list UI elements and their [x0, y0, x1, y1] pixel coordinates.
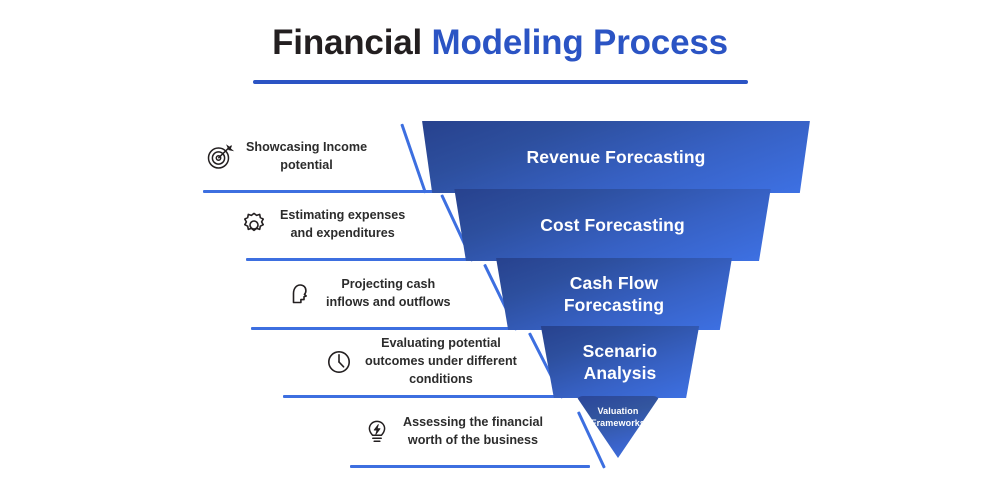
page-title-part2: Modeling Process: [432, 23, 728, 62]
funnel-band-label: Scenario Analysis: [583, 340, 658, 385]
head-profile-icon: [283, 277, 317, 311]
stage-description: Estimating expenses and expenditures: [280, 207, 405, 243]
page-title-part1: Financial: [272, 23, 431, 62]
stage-description: Evaluating potential outcomes under diff…: [365, 335, 517, 389]
gear-icon: [237, 208, 271, 242]
stage-description: Showcasing Income potential: [246, 139, 367, 175]
stage-label-cash-flow-forecasting: Projecting cash inflows and outflows: [283, 258, 495, 330]
funnel-band[interactable]: Cash Flow Forecasting: [488, 258, 740, 330]
clock-icon: [322, 345, 356, 379]
page-title: Financial Modeling Process: [0, 24, 1000, 63]
title-underline: [253, 80, 748, 84]
stage-description: Projecting cash inflows and outflows: [326, 276, 451, 312]
funnel-stage-scenario-analysis[interactable]: Evaluating potential outcomes under diff…: [0, 326, 1000, 398]
stage-label-cost-forecasting: Estimating expenses and expenditures: [237, 189, 452, 261]
pointer-line-horizontal: [350, 465, 590, 468]
title-block: Financial Modeling Process: [0, 24, 1000, 84]
stage-description: Assessing the financial worth of the bus…: [403, 414, 543, 450]
stage-label-revenue-forecasting: Showcasing Income potential: [203, 121, 418, 193]
funnel-band[interactable]: Valuation Frameworks: [576, 396, 660, 458]
stage-label-valuation-frameworks: Assessing the financial worth of the bus…: [360, 396, 573, 468]
funnel-band[interactable]: Cost Forecasting: [446, 189, 779, 261]
funnel-stage-revenue-forecasting[interactable]: Showcasing Income potential Revenue Fore…: [0, 121, 1000, 193]
funnel-band[interactable]: Revenue Forecasting: [414, 121, 818, 193]
funnel-band[interactable]: Scenario Analysis: [533, 326, 707, 398]
stage-label-scenario-analysis: Evaluating potential outcomes under diff…: [322, 326, 537, 398]
funnel-band-label: Valuation Frameworks: [591, 405, 645, 429]
funnel-stage-cost-forecasting[interactable]: Estimating expenses and expenditures Cos…: [0, 189, 1000, 261]
funnel-stage-cash-flow-forecasting[interactable]: Projecting cash inflows and outflows Cas…: [0, 258, 1000, 330]
funnel-band-label: Cost Forecasting: [540, 214, 685, 236]
funnel-band-label: Cash Flow Forecasting: [564, 272, 664, 317]
lightbulb-bolt-icon: [360, 415, 394, 449]
target-icon: [203, 140, 237, 174]
funnel-stage-valuation-frameworks[interactable]: Assessing the financial worth of the bus…: [0, 396, 1000, 468]
funnel-band-label: Revenue Forecasting: [527, 146, 706, 168]
